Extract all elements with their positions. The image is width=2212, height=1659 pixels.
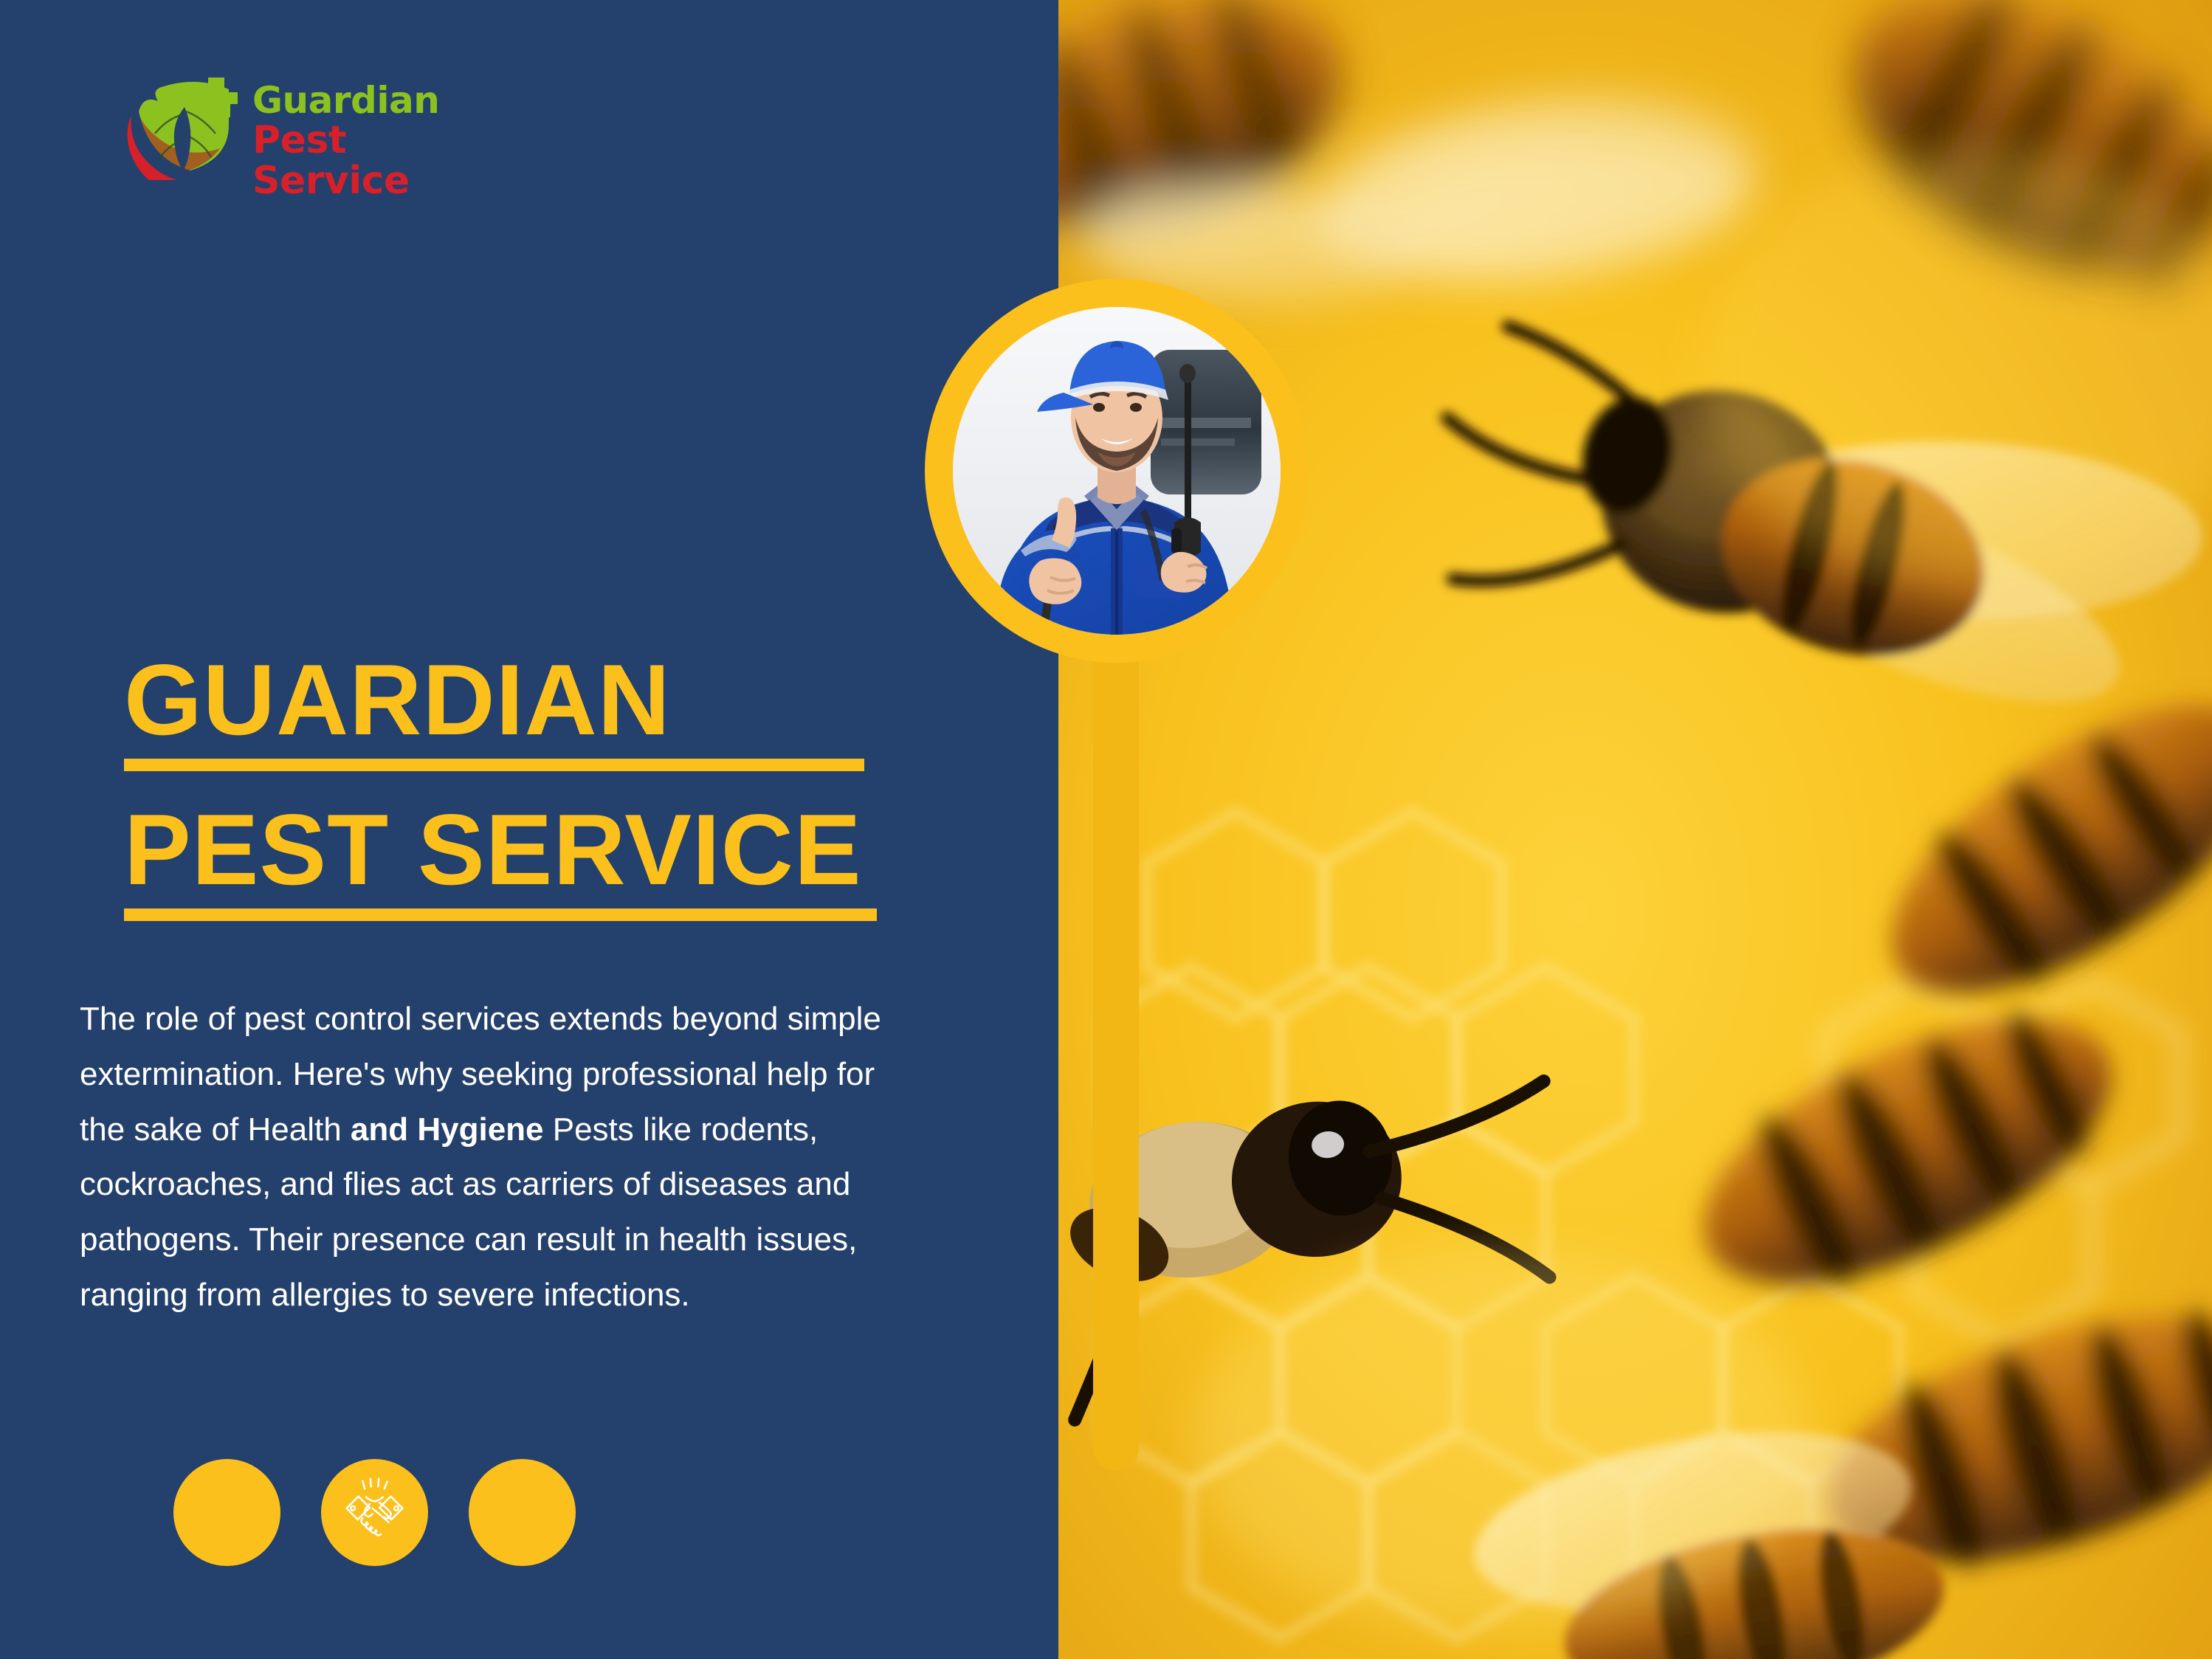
feature-badges: [173, 1459, 576, 1566]
body-paragraph: The role of pest control services extend…: [80, 992, 917, 1323]
page-title: GUARDIAN PEST SERVICE: [124, 649, 951, 949]
poster: Guardian Pest Service GUARDIAN PEST SERV…: [0, 0, 2212, 1659]
badge-circle-1[interactable]: [173, 1459, 280, 1566]
headline-line-1: GUARDIAN: [124, 649, 951, 750]
headline-underline-2: [124, 908, 877, 921]
badge-circle-3[interactable]: [469, 1459, 576, 1566]
logo-wordmark: Guardian Pest Service: [252, 82, 474, 201]
logo-line-pest-service: Pest Service: [252, 120, 474, 201]
pin-circle-ring: [925, 279, 1309, 663]
technician-portrait-photo: [953, 307, 1281, 635]
headline-line-2: PEST SERVICE: [124, 799, 951, 900]
logo-line-guardian: Guardian: [252, 82, 474, 119]
headline-underline-1: [124, 759, 864, 771]
leaf-bug-logo-icon: [125, 73, 244, 180]
body-text-bold: and Hygiene: [351, 1111, 544, 1148]
brand-logo[interactable]: Guardian Pest Service: [125, 70, 472, 181]
badge-circle-handshake[interactable]: [321, 1459, 428, 1566]
technician-pin-badge: [925, 279, 1309, 1471]
handshake-icon: [340, 1477, 410, 1548]
